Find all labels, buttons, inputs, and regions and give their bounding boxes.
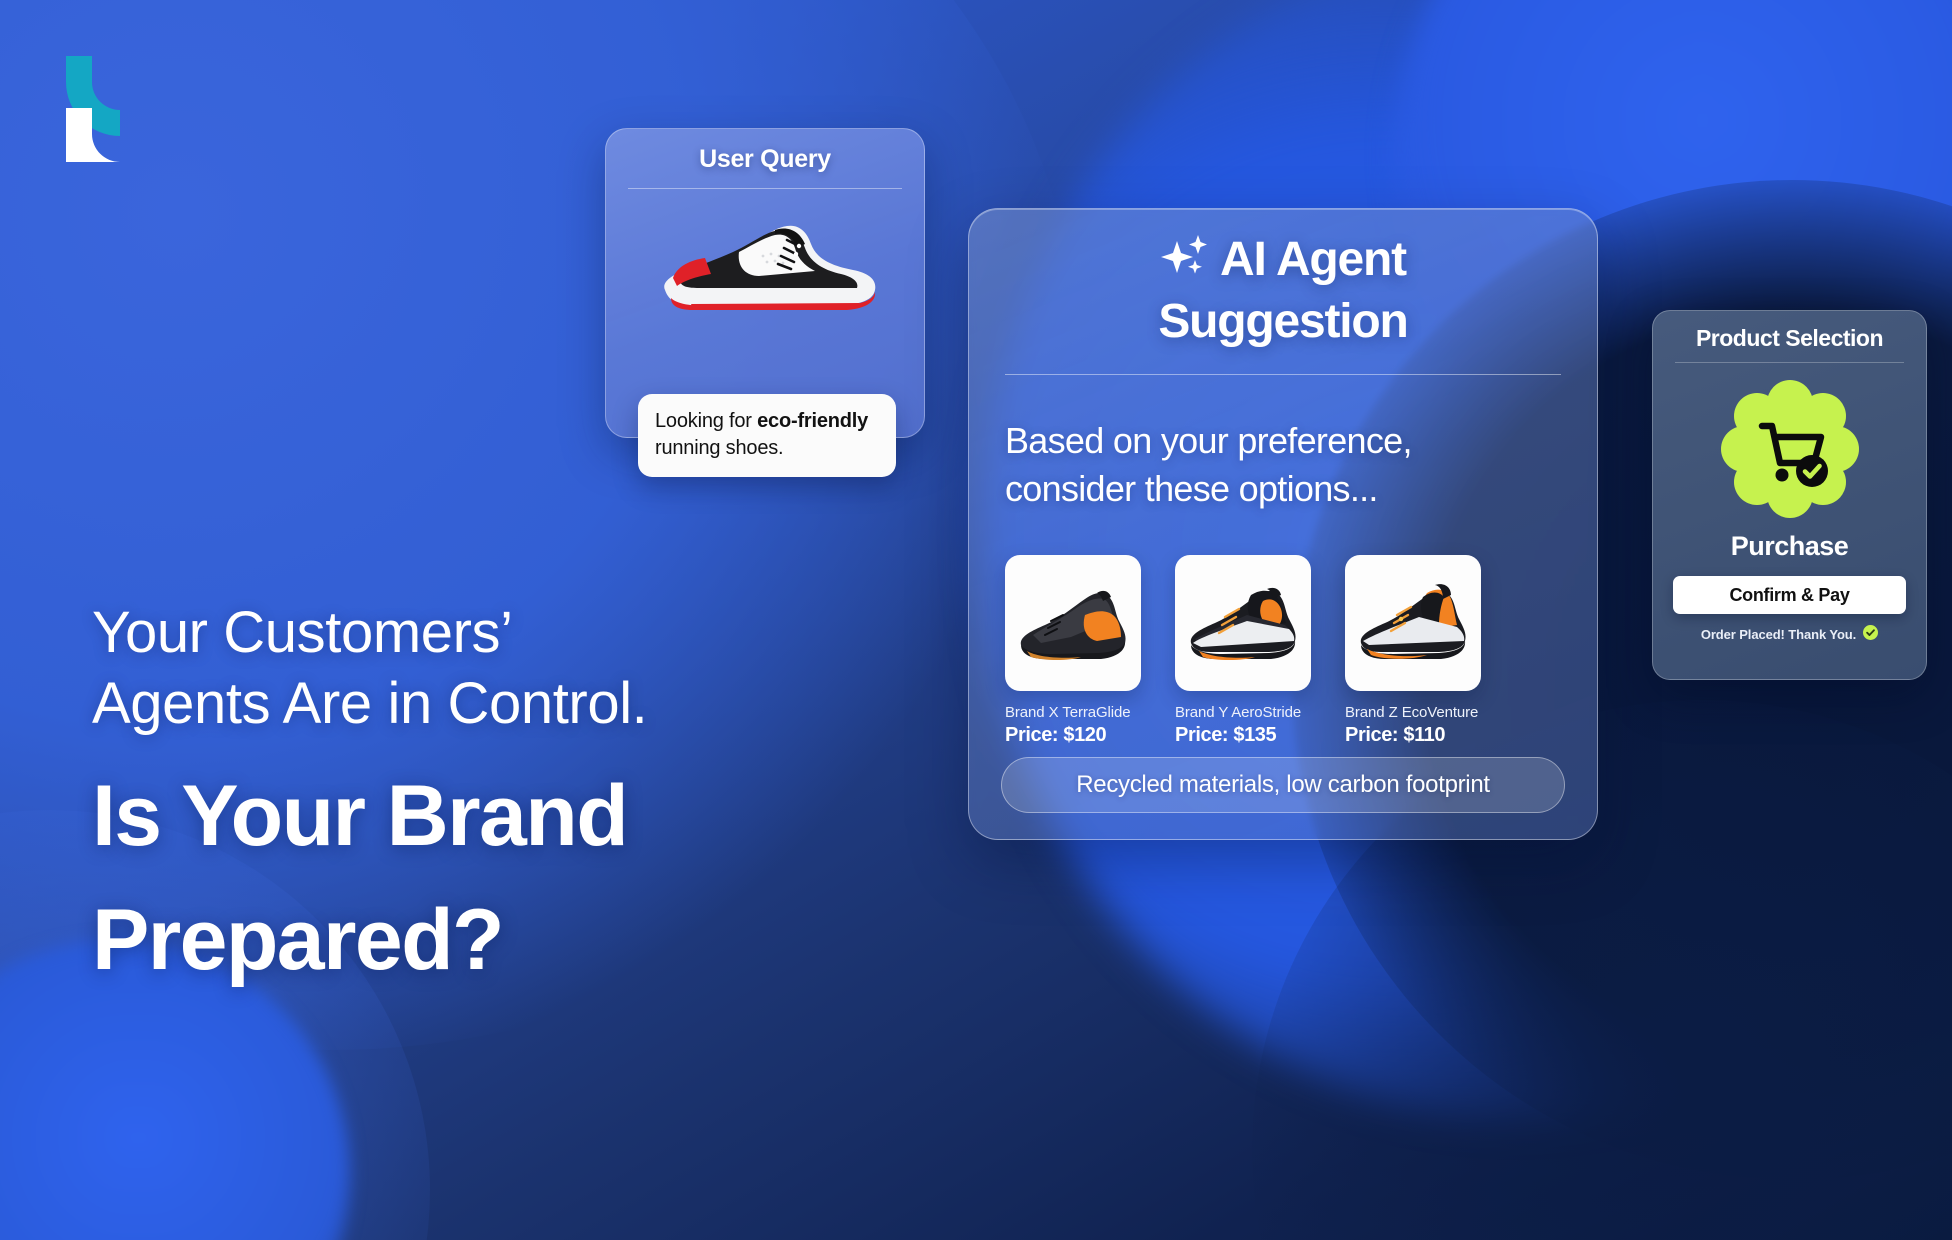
product-image: [1005, 555, 1141, 691]
product-selection-title: Product Selection: [1669, 325, 1910, 352]
message-highlight: eco-friendly: [757, 410, 868, 432]
order-status: Order Placed! Thank You.: [1669, 625, 1910, 643]
message-suffix: running shoes.: [655, 437, 783, 459]
headline-line-2: Agents Are in Control.: [92, 669, 852, 740]
product-card[interactable]: Brand X TerraGlide Price: $120: [1005, 555, 1141, 747]
ai-card-subtitle: Based on your preference, consider these…: [1005, 417, 1561, 513]
divider: [1675, 362, 1904, 363]
headline-line-3: Is Your Brand: [92, 768, 852, 864]
ai-agent-suggestion-card: AI Agent Suggestion Based on your prefer…: [968, 208, 1598, 840]
user-query-message: Looking for eco-friendly running shoes.: [638, 394, 896, 477]
product-image: [1345, 555, 1481, 691]
ai-title-line-1: AI Agent: [1220, 233, 1406, 286]
ai-subtitle-line-2: consider these options...: [1005, 465, 1561, 513]
headline-block: Your Customers’ Agents Are in Control. I…: [92, 598, 852, 988]
ai-card-title: AI Agent Suggestion: [1005, 231, 1561, 350]
headline-line-4: Prepared?: [92, 892, 852, 988]
product-name: Brand Z EcoVenture: [1345, 704, 1481, 721]
divider: [1005, 374, 1561, 375]
user-query-product-image: [624, 199, 906, 335]
divider: [628, 188, 902, 189]
product-price: Price: $120: [1005, 724, 1141, 747]
purchase-label: Purchase: [1669, 531, 1910, 562]
product-image: [1175, 555, 1311, 691]
product-price: Price: $110: [1345, 724, 1481, 747]
check-circle-icon: [1863, 625, 1878, 643]
product-suggestion-list: Brand X TerraGlide Price: $120: [1005, 555, 1561, 747]
product-name: Brand X TerraGlide: [1005, 704, 1141, 721]
message-prefix: Looking for: [655, 410, 757, 432]
user-query-title: User Query: [624, 145, 906, 174]
order-status-text: Order Placed! Thank You.: [1701, 627, 1856, 642]
headline-line-1: Your Customers’: [92, 598, 852, 669]
company-logo: [62, 52, 124, 162]
confirm-and-pay-button[interactable]: Confirm & Pay: [1673, 576, 1906, 614]
eco-attribute-tag: Recycled materials, low carbon footprint: [1001, 757, 1565, 813]
cart-check-icon: [1720, 379, 1860, 519]
product-selection-card: Product Selection Purchase Conf: [1652, 310, 1927, 680]
product-card[interactable]: Brand Y AeroStride Price: $135: [1175, 555, 1311, 747]
user-query-card: User Query: [605, 128, 925, 438]
sparkle-icon: [1160, 235, 1214, 293]
product-name: Brand Y AeroStride: [1175, 704, 1311, 721]
poster-canvas: Your Customers’ Agents Are in Control. I…: [0, 0, 1952, 1240]
purchase-badge: [1669, 379, 1910, 519]
ai-title-line-2: Suggestion: [1005, 293, 1561, 351]
product-price: Price: $135: [1175, 724, 1311, 747]
product-card[interactable]: Brand Z EcoVenture Price: $110: [1345, 555, 1481, 747]
ai-subtitle-line-1: Based on your preference,: [1005, 417, 1561, 465]
